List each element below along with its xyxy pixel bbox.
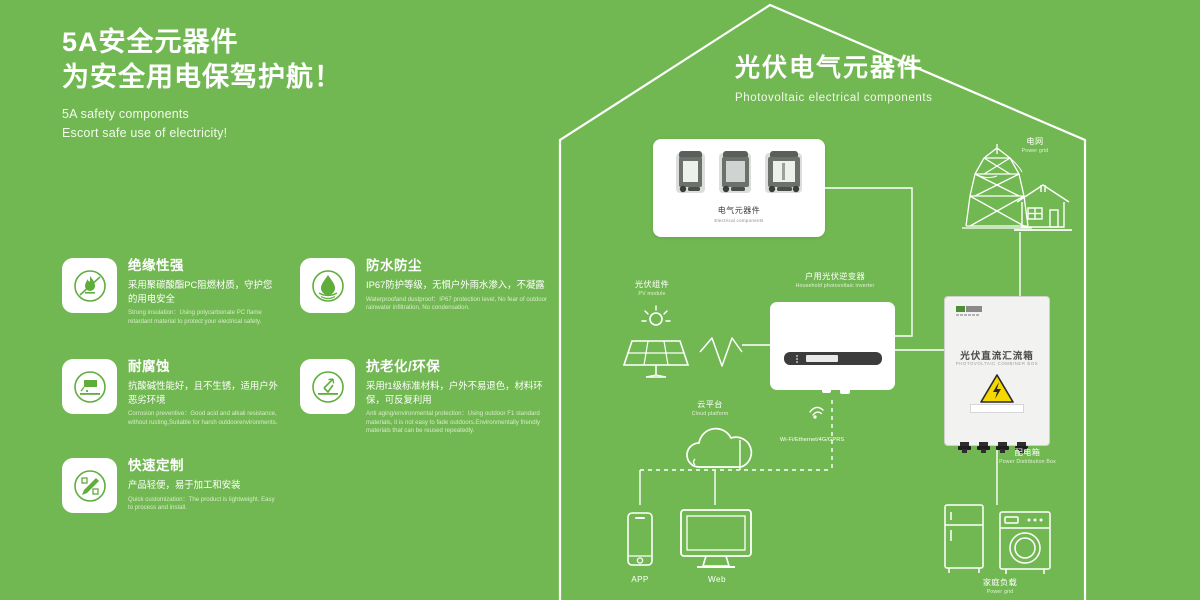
wifi-signal-icon — [806, 398, 832, 420]
component-thumbnail-row — [674, 150, 804, 198]
left-title-en-2: Escort safe use of electricity! — [62, 124, 482, 143]
label-web: Web — [692, 575, 742, 585]
feature-title: 快速定制 — [128, 458, 278, 474]
inverter-label-cn: 户用光伏逆变器 — [776, 272, 894, 282]
distribution-box-label-en: Power Distribution Box — [975, 459, 1080, 466]
feature-title: 抗老化/环保 — [366, 359, 551, 375]
feature-card-corrosion[interactable]: 耐腐蚀 抗酸碱性能好，且不生锈，适用户外恶劣环境 Corrosion preve… — [62, 359, 278, 427]
right-title-en: Photovoltaic electrical components — [735, 92, 932, 104]
pv-module-label-en: PV module — [612, 291, 692, 298]
feature-card-customization[interactable]: 快速定制 产品轻便，易于加工和安装 Quick customization：Th… — [62, 458, 278, 513]
feature-desc-cn: 采用聚碳酸酯PC阻燃材质，守护您的用电安全 — [128, 278, 278, 305]
pv-module-label-cn: 光伏组件 — [612, 280, 692, 290]
left-title-cn-1: 5A安全元器件 — [62, 26, 482, 60]
warning-high-voltage-icon — [980, 374, 1014, 404]
feature-title: 绝缘性强 — [128, 258, 278, 274]
feature-desc-cn: IP67防护等级，无惧户外雨水渗入，不凝露 — [366, 278, 551, 292]
feature-desc-cn: 抗酸碱性能好，且不生锈，适用户外恶劣环境 — [128, 379, 278, 406]
app-label: APP — [615, 575, 665, 585]
corrosion-resistance-icon — [62, 359, 117, 414]
label-household-load: 家庭负载 Power grid — [955, 578, 1045, 596]
household-load-label-cn: 家庭负载 — [955, 578, 1045, 588]
feature-desc-en: Corrosion preventive：Good acid and alkal… — [128, 410, 278, 427]
cloud-label-en: Cloud platform — [672, 411, 748, 418]
feature-title: 耐腐蚀 — [128, 359, 278, 375]
components-card-caption-cn: 电气元器件 — [718, 205, 761, 216]
wifi-link-label: Wi-Fi/Ethernet/4G/GPRS — [752, 437, 872, 444]
inverter-led-dots — [796, 355, 798, 363]
household-inverter[interactable] — [770, 302, 895, 390]
smartphone-icon — [621, 512, 659, 574]
combiner-label-strip — [970, 404, 1024, 413]
feature-desc-en: Strong insulation：Using polycarbonate PC… — [128, 309, 278, 326]
component-thumb-2 — [717, 150, 753, 198]
feature-card-waterproof[interactable]: 防水防尘 IP67防护等级，无惧户外雨水渗入，不凝露 Waterproofand… — [300, 258, 551, 313]
inverter-label-en: Household photovoltaic inverter — [776, 283, 894, 290]
web-label: Web — [692, 575, 742, 585]
cloud-platform-icon — [677, 423, 767, 473]
brand-logo-icon — [956, 305, 994, 318]
left-title-en-1: 5A safety components — [62, 105, 482, 124]
left-headline: 5A安全元器件 为安全用电保驾护航！ 5A safety components … — [62, 26, 482, 142]
house-icon — [1012, 182, 1074, 234]
label-inverter: 户用光伏逆变器 Household photovoltaic inverter — [776, 272, 894, 290]
right-title-cn: 光伏电气元器件 — [735, 48, 932, 84]
pv-combiner-box[interactable]: 光伏直流汇流箱 PHOTOVOLTAIC COMBINER BOX — [944, 296, 1050, 446]
desktop-monitor-icon — [678, 508, 754, 574]
label-pv-module: 光伏组件 PV module — [612, 280, 692, 298]
combiner-title-en: PHOTOVOLTAIC COMBINER BOX — [944, 361, 1050, 366]
anti-aging-icon — [300, 359, 355, 414]
inverter-display-bar — [784, 352, 882, 365]
household-load-label-en: Power grid — [955, 589, 1045, 596]
right-headline: 光伏电气元器件 Photovoltaic electrical componen… — [735, 48, 932, 104]
feature-desc-cn: 采用f1级标准材料，户外不易退色，材料环保，可反复利用 — [366, 379, 551, 406]
no-fire-icon — [62, 258, 117, 313]
inverter-screen — [806, 355, 838, 362]
washing-machine-icon — [997, 510, 1053, 576]
feature-desc-en: Quick customization：The product is light… — [128, 496, 278, 513]
label-cloud: 云平台 Cloud platform — [672, 400, 748, 418]
electrical-components-card[interactable]: 电气元器件 Electrical components — [653, 139, 825, 237]
combiner-title-cn: 光伏直流汇流箱 — [944, 348, 1050, 362]
pencil-customization-icon — [62, 458, 117, 513]
component-thumb-3 — [763, 150, 804, 198]
component-thumb-1 — [674, 150, 707, 198]
label-app: APP — [615, 575, 665, 585]
feature-desc-en: Waterproofand dustproof：IP67 protection … — [366, 296, 551, 313]
components-card-caption-en: Electrical components — [714, 218, 763, 223]
combiner-box-body — [944, 296, 1050, 446]
label-distribution-box: 配电箱 Power Distribution Box — [975, 448, 1080, 466]
solar-panel-icon — [612, 303, 700, 381]
feature-title: 防水防尘 — [366, 258, 551, 274]
refrigerator-icon — [940, 503, 988, 575]
feature-desc-en: Anti aging/environmental protection：Usin… — [366, 410, 551, 435]
feature-card-insulation[interactable]: 绝缘性强 采用聚碳酸酯PC阻燃材质，守护您的用电安全 Strong insula… — [62, 258, 278, 326]
feature-desc-cn: 产品轻便，易于加工和安装 — [128, 478, 278, 492]
water-drop-icon — [300, 258, 355, 313]
distribution-box-label-cn: 配电箱 — [975, 448, 1080, 458]
left-title-cn-2: 为安全用电保驾护航！ — [62, 60, 482, 95]
cloud-label-cn: 云平台 — [672, 400, 748, 410]
inverter-connectors — [776, 374, 891, 402]
label-wifi-link: Wi-Fi/Ethernet/4G/GPRS — [752, 437, 872, 444]
feature-card-anti-aging[interactable]: 抗老化/环保 采用f1级标准材料，户外不易退色，材料环保，可反复利用 Anti … — [300, 359, 551, 436]
poster-canvas: 5A安全元器件 为安全用电保驾护航！ 5A safety components … — [0, 0, 1200, 600]
